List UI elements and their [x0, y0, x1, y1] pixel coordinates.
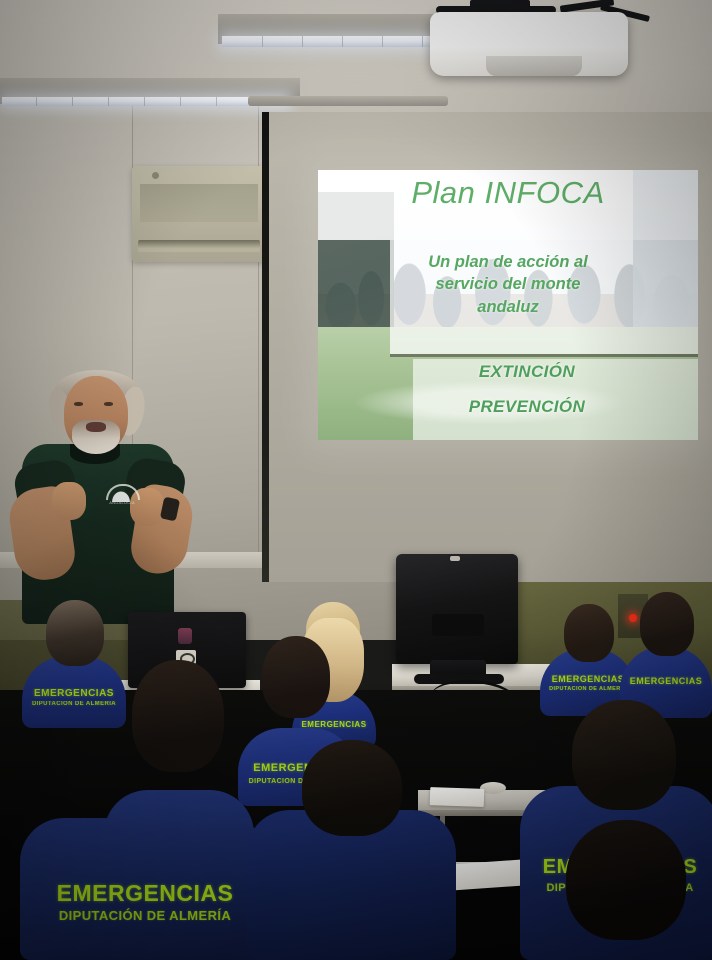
attendee-front-right-head [302, 740, 402, 836]
attendee-far-right-shirt-line1: EMERGENCIAS [620, 676, 712, 686]
slide-subtitle: Un plan de acción al servicio del monte … [348, 251, 667, 318]
slide-subtitle-line-1: Un plan de acción al [348, 251, 667, 273]
slide-subtitle-line-2: servicio del monte [348, 273, 667, 295]
attendee-front-center-head [132, 660, 224, 772]
attendee-far-right: EMERGENCIAS [620, 588, 712, 718]
slide-bullet-extincion: EXTINCIÓN [386, 362, 667, 382]
projector-lens [486, 56, 582, 76]
attendee-back-left-head [46, 600, 104, 666]
attendee-foreground-right-head [566, 820, 686, 940]
slide-title: Plan INFOCA [318, 175, 698, 211]
attendee-front-left-torso: EMERGENCIAS DIPUTACIÓN DE ALMERÍA [20, 818, 270, 960]
slide-divider [390, 354, 698, 357]
attendee-mid-left-head [262, 636, 330, 718]
attendee-foreground-right [556, 820, 712, 960]
air-conditioner [132, 166, 266, 262]
attendee-front-right [246, 740, 456, 960]
laptop-logo-icon [178, 628, 192, 644]
presenter-mouth [86, 422, 106, 432]
presenter-eye-right [104, 402, 113, 406]
andalucia-logo-text: ANDALUCIA [104, 500, 140, 505]
attendee-far-right-head [640, 592, 694, 656]
paper-notebook [451, 860, 523, 891]
projected-slide: Plan INFOCA Un plan de acción al servici… [318, 170, 698, 440]
slide-bullet-prevencion: PREVENCIÓN [386, 397, 667, 417]
attendee-center-right-head [572, 700, 676, 810]
ceiling-projector [430, 12, 628, 76]
classroom-photo: Plan INFOCA Un plan de acción al servici… [0, 0, 712, 960]
fluorescent-tube-left [2, 97, 288, 106]
slide-subtitle-line-3: andaluz [348, 296, 667, 318]
attendee-front-left-shirt-line2: DIPUTACIÓN DE ALMERÍA [20, 908, 270, 923]
screen-roller [248, 96, 448, 106]
ac-screw [152, 172, 159, 179]
attendee-right-head [564, 604, 614, 662]
attendee-front-left-shirt-line1: EMERGENCIAS [20, 880, 270, 907]
monitor-top-label [450, 556, 460, 561]
ac-vent [138, 240, 260, 252]
presenter-eye-left [74, 402, 83, 406]
presenter-hand-left [52, 482, 86, 520]
monitor-rear-panel [432, 614, 484, 636]
attendee-front-left: EMERGENCIAS DIPUTACIÓN DE ALMERÍA [20, 790, 270, 960]
screen-left-edge [262, 112, 269, 582]
crt-monitor[interactable] [396, 554, 518, 664]
ac-grille [140, 184, 258, 222]
